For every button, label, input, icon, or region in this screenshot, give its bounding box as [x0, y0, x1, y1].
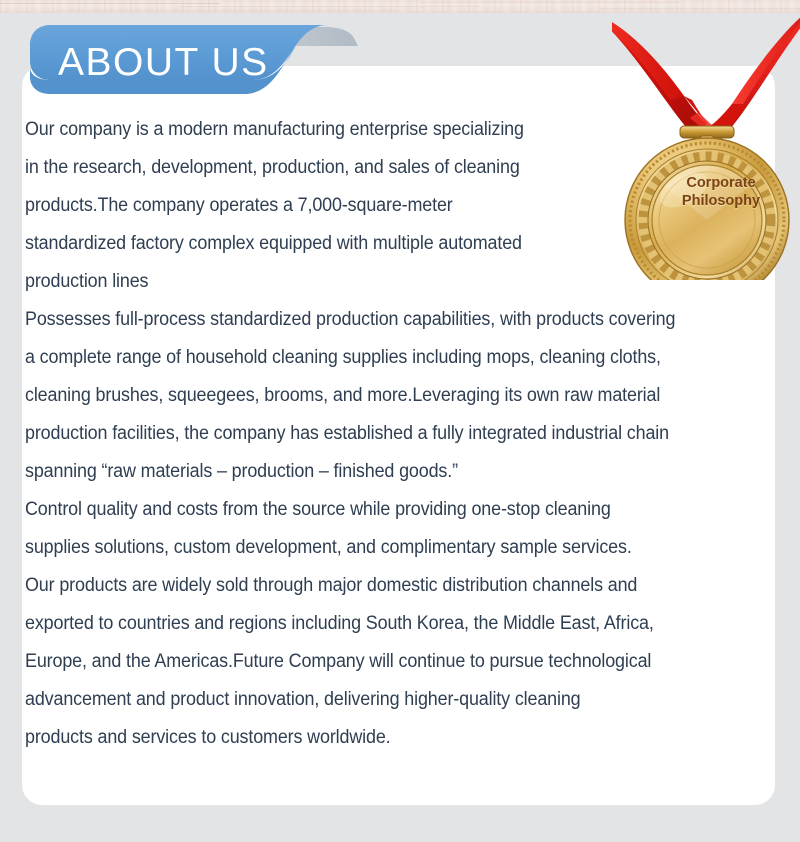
body-text-line: Europe, and the Americas.Future Company …: [25, 642, 713, 680]
body-text-line: production lines: [25, 262, 713, 300]
paragraph-2: Possesses full-process standardized prod…: [25, 300, 777, 490]
body-text-line: advancement and product innovation, deli…: [25, 680, 713, 718]
body-text-line: spanning “raw materials – production – f…: [25, 452, 713, 490]
corporate-philosophy-medal: Corporate Philosophy: [612, 0, 800, 280]
body-text-line: a complete range of household cleaning s…: [25, 338, 713, 376]
body-text-line: in the research, development, production…: [25, 148, 713, 186]
body-text-line: cleaning brushes, squeegees, brooms, and…: [25, 376, 713, 414]
about-us-banner: ABOUT US: [28, 25, 358, 103]
body-text-line: Control quality and costs from the sourc…: [25, 490, 713, 528]
banner-title: ABOUT US: [58, 38, 269, 88]
body-text-line: supplies solutions, custom development, …: [25, 528, 713, 566]
paragraph-3: Control quality and costs from the sourc…: [25, 490, 777, 756]
body-text-line: products and services to customers world…: [25, 718, 713, 756]
body-text-line: standardized factory complex equipped wi…: [25, 224, 713, 262]
body-text-line: exported to countries and regions includ…: [25, 604, 713, 642]
medal-label-line-1: Corporate: [686, 175, 755, 191]
medal-label: Corporate Philosophy: [660, 174, 782, 210]
medal-label-line-2: Philosophy: [682, 193, 760, 209]
body-text-line: production facilities, the company has e…: [25, 414, 713, 452]
medal-graphic: [612, 0, 800, 280]
body-text-line: Possesses full-process standardized prod…: [25, 300, 713, 338]
body-text-line: Our company is a modern manufacturing en…: [25, 110, 713, 148]
body-text-line: Our products are widely sold through maj…: [25, 566, 713, 604]
body-text-line: products.The company operates a 7,000-sq…: [25, 186, 713, 224]
